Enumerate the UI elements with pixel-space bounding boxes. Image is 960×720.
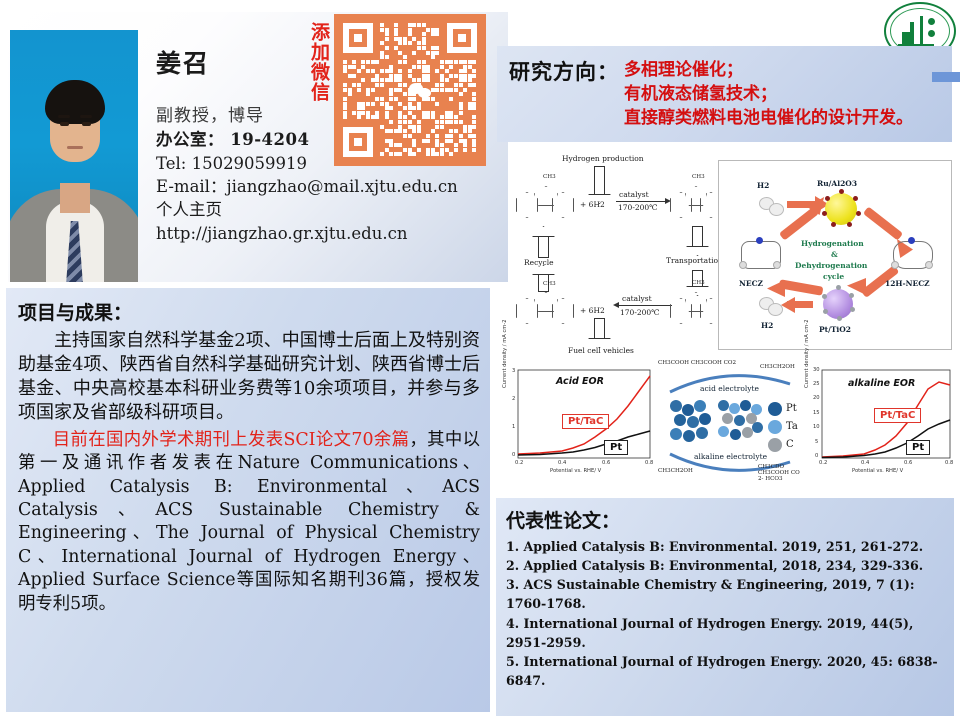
fig-catalyst: catalyst	[619, 190, 649, 199]
representative-publications-panel: 代表性论文： 1. Applied Catalysis B: Environme…	[496, 498, 954, 716]
alk-ytick: 10	[813, 424, 820, 430]
fig-label-transportation: Transportation	[666, 256, 723, 265]
alkaline-reactant-label: CH3CH2OH	[658, 468, 693, 474]
acid-electrolyte-label: acid electrolyte	[700, 384, 759, 393]
projects-rest: ，其中以第一及通讯作者发表在Nature Communications、Appl…	[18, 430, 480, 614]
legend-label-c: C	[786, 439, 794, 450]
research-item: 有机液态储氢技术；	[624, 82, 913, 106]
alk-xlabel: Potential vs. RHE/ V	[852, 468, 903, 474]
wechat-qr-code[interactable]	[334, 14, 486, 166]
alk-series-label-pttac: Pt/TaC	[874, 408, 921, 423]
alk-ytick: 5	[815, 439, 818, 445]
alk-ytick: 20	[813, 395, 820, 401]
hydrogen-storage-cycle-diagram: Hydrogen production CH3 + 6H2 catalyst 1…	[510, 152, 725, 357]
alk-ytick: 0	[815, 453, 818, 459]
alk-series-label-pt: Pt	[906, 440, 930, 455]
acid-xlabel: Potential vs. RHE/ V	[550, 468, 601, 474]
fig-temperature: 170-200℃	[618, 203, 658, 212]
alk-xtick: 0.2	[819, 460, 827, 466]
hydrogenation-dehydrogenation-cycle: H2 Ru/Al2O3 Hydrogenation & Dehydrogenat…	[718, 160, 952, 350]
research-item: 直接醇类燃料电池电催化的设计开发。	[624, 106, 913, 130]
research-item: 多相理论催化；	[624, 58, 913, 82]
profile-email: E-mail：jiangzhao@mail.xjtu.edu.cn	[156, 175, 504, 198]
homepage-label: 个人主页	[156, 198, 504, 221]
cycle-center-line1: Hydrogenation	[801, 239, 864, 248]
cycle-center-amp: &	[831, 250, 838, 259]
chart-acid-eor: Current density / mA cm-2 Acid EOR Pt/Ta…	[498, 362, 658, 484]
alkaline-products-label: CH3CDO CH3COOH CO3 2- HCO3	[758, 464, 806, 482]
alk-chart-title: alkaline EOR	[848, 378, 915, 389]
office-label: 办公室：	[156, 130, 224, 149]
cycle-h2-bottom: H2	[761, 321, 773, 330]
office-value: 19-4204	[230, 130, 309, 149]
cycle-bottom-catalyst: Pt/TiO2	[819, 325, 851, 334]
publication-item: 5. International Journal of Hydrogen Ene…	[506, 652, 946, 690]
cycle-top-catalyst: Ru/Al2O3	[817, 179, 857, 188]
alk-xtick: 0.4	[861, 460, 869, 466]
projects-highlight: 目前在国内外学术期刊上发表SCI论文70余篇	[53, 430, 410, 450]
chart-alkaline-eor: Current density / mA cm-2 alkaline EOR P…	[800, 362, 958, 484]
acid-series-label-pt: Pt	[604, 440, 628, 455]
alk-xtick: 0.8	[945, 460, 953, 466]
alk-ytick: 25	[813, 381, 820, 387]
acid-ytick: 0	[512, 452, 515, 458]
fig-label-recycle: Recycle	[524, 258, 554, 267]
research-directions-panel: 研究方向： 多相理论催化； 有机液态储氢技术； 直接醇类燃料电池电催化的设计开发…	[497, 46, 952, 142]
accent-bar	[932, 72, 960, 82]
alk-ytick: 15	[813, 410, 820, 416]
add-wechat-label: 添加微信	[303, 22, 329, 102]
alkaline-electrolyte-label: alkaline electrolyte	[694, 452, 767, 461]
publication-item: 3. ACS Sustainable Chemistry & Engineeri…	[506, 575, 946, 613]
cycle-left-molecule: NECZ	[739, 279, 763, 288]
cycle-center-line3: cycle	[823, 272, 844, 281]
research-label: 研究方向：	[509, 56, 619, 86]
research-items: 多相理论催化； 有机液态储氢技术； 直接醇类燃料电池电催化的设计开发。	[624, 58, 913, 130]
publication-item: 1. Applied Catalysis B: Environmental. 2…	[506, 537, 946, 556]
cycle-center-line2: Dehydrogenation	[795, 261, 867, 270]
acid-ytick: 2	[512, 396, 515, 402]
homepage-url[interactable]: http://jiangzhao.gr.xjtu.edu.cn	[156, 222, 504, 245]
acid-xtick: 0.4	[558, 460, 566, 466]
projects-title: 项目与成果：	[18, 298, 480, 325]
fig-label-fuel-cell: Fuel cell vehicles	[568, 346, 634, 355]
acid-xtick: 0.8	[645, 460, 653, 466]
electrolyte-schematic: CH3COOH CH3COOH CO2 CH3CH2OH acid electr…	[656, 358, 806, 488]
alk-xtick: 0.6	[904, 460, 912, 466]
publication-item: 4. International Journal of Hydrogen Ene…	[506, 614, 946, 652]
acid-series-label-pttac: Pt/TaC	[562, 414, 609, 429]
publication-item: 2. Applied Catalysis B: Environmental, 2…	[506, 556, 946, 575]
cycle-h2-top: H2	[757, 181, 769, 190]
cycle-right-molecule: 12H-NECZ	[885, 279, 930, 288]
projects-achievements-panel: 项目与成果： 主持国家自然科学基金2项、中国博士后面上及特别资助基金4项、陕西省…	[6, 288, 490, 712]
alk-ytick: 30	[813, 367, 820, 373]
projects-paragraph-1: 主持国家自然科学基金2项、中国博士后面上及特别资助基金4项、陕西省自然科学基础研…	[18, 329, 480, 425]
acid-chart-title: Acid EOR	[556, 376, 604, 387]
fig-label-hydrogen-production: Hydrogen production	[562, 154, 644, 163]
portrait-photo	[10, 30, 138, 282]
projects-paragraph-2: 目前在国内外学术期刊上发表SCI论文70余篇，其中以第一及通讯作者发表在Natu…	[18, 429, 480, 616]
acid-xtick: 0.2	[515, 460, 523, 466]
acid-ytick: 1	[512, 424, 515, 430]
fig-reagent: + 6H2	[580, 200, 605, 209]
acid-xtick: 0.6	[602, 460, 610, 466]
legend-label-pt: Pt	[786, 403, 797, 414]
legend-label-ta: Ta	[786, 421, 798, 432]
publications-title: 代表性论文：	[506, 506, 946, 533]
acid-ytick: 3	[512, 368, 515, 374]
